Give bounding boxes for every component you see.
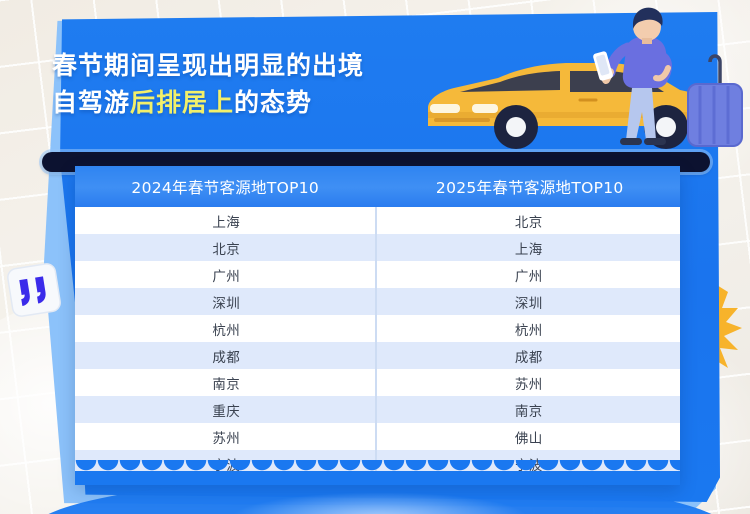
cell-2024: 广州 [75,261,378,288]
table-row: 重庆 南京 [75,396,680,423]
cell-2025: 佛山 [378,423,681,450]
table-column-divider [375,207,377,477]
quote-mark-icon [4,260,63,319]
cell-2024: 上海 [75,207,378,234]
cell-2025: 杭州 [378,315,681,342]
table-body: 上海 北京 北京 上海 广州 广州 深圳 深圳 杭州 杭州 成都 成都 [75,207,680,477]
card-scalloped-edge [75,460,680,484]
cell-2024: 南京 [75,369,378,396]
headline-line-1: 春节期间呈现出明显的出境 [52,47,472,84]
infographic-stage: 春节期间呈现出明显的出境 自驾游后排居上的态势 [0,0,750,514]
table-header-2024: 2024年春节客源地TOP10 [75,166,380,207]
table-header-2025: 2025年春节客源地TOP10 [380,166,681,207]
table-row: 成都 成都 [75,342,680,369]
table-row: 上海 北京 [75,207,680,234]
cell-2024: 成都 [75,342,378,369]
table-header-row: 2024年春节客源地TOP10 2025年春节客源地TOP10 [75,166,680,207]
ranking-table-card: 2024年春节客源地TOP10 2025年春节客源地TOP10 上海 北京 北京… [75,166,680,484]
table-row: 深圳 深圳 [75,288,680,315]
page-title: 春节期间呈现出明显的出境 自驾游后排居上的态势 [52,47,472,121]
cell-2025: 广州 [378,261,681,288]
headline-suffix: 的态势 [234,88,312,117]
cell-2024: 苏州 [75,423,378,450]
cell-2024: 深圳 [75,288,378,315]
table-row: 北京 上海 [75,234,680,261]
cell-2024: 杭州 [75,315,378,342]
bottom-glow [230,492,530,514]
headline-accent: 后排居上 [130,88,234,117]
headline-line-2: 自驾游后排居上的态势 [52,84,472,121]
cell-2025: 苏州 [378,369,681,396]
cell-2024: 北京 [75,234,378,261]
cell-2024: 重庆 [75,396,378,423]
cell-2025: 南京 [378,396,681,423]
table-row: 杭州 杭州 [75,315,680,342]
headline-prefix: 自驾游 [52,88,130,117]
rolling-suitcase-icon [688,56,742,146]
cell-2025: 北京 [378,207,681,234]
table-row: 广州 广州 [75,261,680,288]
cell-2025: 上海 [378,234,681,261]
table-row: 南京 苏州 [75,369,680,396]
table-row: 苏州 佛山 [75,423,680,450]
cell-2025: 成都 [378,342,681,369]
cell-2025: 深圳 [378,288,681,315]
